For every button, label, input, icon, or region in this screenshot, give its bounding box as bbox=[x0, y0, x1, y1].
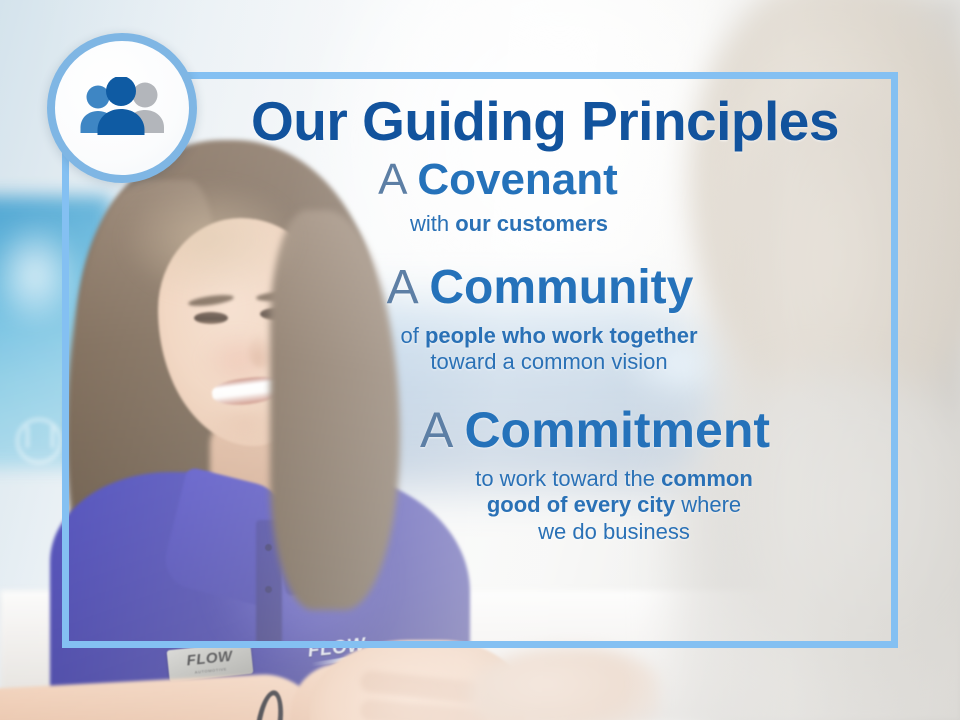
principle-subtext: of people who work together toward a com… bbox=[98, 323, 862, 376]
principle-subtext: to work toward the common good of every … bbox=[98, 466, 862, 545]
principle-article: A bbox=[420, 402, 464, 458]
subtext-segment: we do business bbox=[538, 519, 690, 544]
principle-heading: A Community bbox=[98, 263, 862, 313]
principle-subtext-line: of people who work together bbox=[236, 323, 862, 349]
principle-covenant: A Covenant with our customers bbox=[98, 157, 862, 237]
principle-article: A bbox=[378, 155, 417, 204]
principle-heading: A Covenant bbox=[98, 157, 862, 203]
principle-heading: A Commitment bbox=[98, 404, 862, 456]
subtext-segment: of bbox=[400, 323, 424, 348]
text-content: Our Guiding Principles A Covenant with o… bbox=[62, 72, 898, 648]
subtext-segment: with bbox=[410, 211, 455, 236]
principle-keyword: Community bbox=[429, 261, 693, 314]
blurred-vw-logo-icon bbox=[16, 418, 62, 464]
subtext-segment: to work toward the bbox=[475, 466, 661, 491]
principle-subtext-line: we do business bbox=[366, 519, 862, 545]
principle-keyword: Commitment bbox=[464, 402, 770, 458]
principle-commitment: A Commitment to work toward the common g… bbox=[98, 404, 862, 545]
principle-subtext: with our customers bbox=[98, 211, 862, 237]
subtext-segment-bold: our customers bbox=[455, 211, 608, 236]
principle-keyword: Covenant bbox=[417, 155, 617, 204]
principle-subtext-line: good of every city where bbox=[366, 492, 862, 518]
subtext-segment: where bbox=[675, 492, 741, 517]
subtext-segment-bold: good of every city bbox=[487, 492, 675, 517]
principle-community: A Community of people who work together … bbox=[98, 263, 862, 376]
subtext-segment-bold: people who work together bbox=[425, 323, 698, 348]
subtext-segment: toward a common vision bbox=[430, 349, 667, 374]
principle-subtext-line: with our customers bbox=[156, 211, 862, 237]
banner-graphic: FLOW AUTOMOTIVE FLOW bbox=[0, 0, 960, 720]
principle-subtext-line: toward a common vision bbox=[236, 349, 862, 375]
principle-article: A bbox=[387, 261, 430, 314]
subtext-segment-bold: common bbox=[661, 466, 753, 491]
page-title: Our Guiding Principles bbox=[98, 94, 862, 149]
principle-subtext-line: to work toward the common bbox=[366, 466, 862, 492]
